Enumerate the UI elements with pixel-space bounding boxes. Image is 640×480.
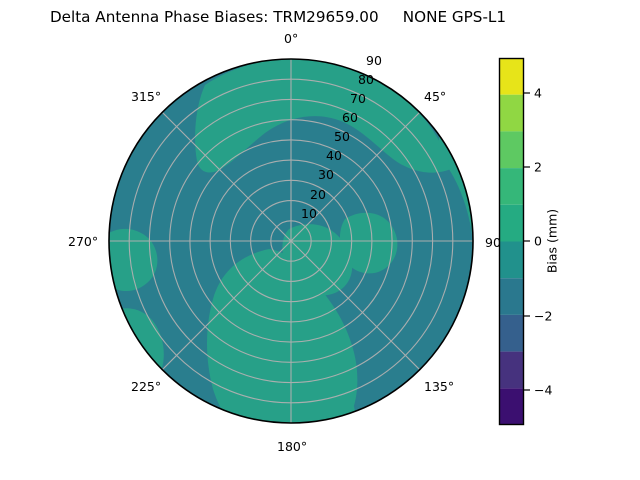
cb-ticklabel-2: 2	[534, 160, 542, 175]
r-tick-10: 10	[301, 206, 317, 221]
polar-plot-canvas[interactable]	[109, 59, 473, 423]
colorbar-axis-label: Bias (mm)	[545, 209, 560, 273]
colorbar-gradient[interactable]	[499, 58, 524, 425]
cb-band-1-2	[499, 168, 524, 205]
cb-ticklabel-0: 0	[534, 234, 542, 249]
theta-tick-315: 315°	[131, 89, 161, 104]
theta-tick-135: 135°	[424, 379, 454, 394]
page-title: Delta Antenna Phase Biases: TRM29659.00 …	[0, 8, 556, 26]
theta-tick-45: 45°	[424, 89, 446, 104]
cb-band-neg1-0	[499, 242, 524, 279]
theta-tick-180: 180°	[277, 439, 307, 454]
cb-band-neg2-neg1	[499, 278, 524, 315]
r-tick-90: 90	[366, 53, 382, 68]
r-tick-40: 40	[326, 148, 342, 163]
colorbar-ticks	[524, 93, 530, 390]
colorbar[interactable]	[499, 58, 524, 425]
cb-band-neg4-neg3	[499, 352, 524, 389]
cb-ticklabel-neg4: −4	[534, 383, 552, 398]
r-tick-70: 70	[350, 91, 366, 106]
r-tick-20: 20	[310, 187, 326, 202]
r-tick-80: 80	[358, 72, 374, 87]
matplotlib-figure: Delta Antenna Phase Biases: TRM29659.00 …	[0, 0, 640, 480]
r-tick-50: 50	[334, 129, 350, 144]
r-tick-30: 30	[318, 167, 334, 182]
cb-band-2-3	[499, 131, 524, 168]
cb-band-0-1	[499, 205, 524, 242]
cb-band-3-4	[499, 95, 524, 132]
polar-axes[interactable]	[109, 59, 473, 423]
cb-ticklabel-neg2: −2	[534, 309, 552, 324]
cb-band-neg3-neg2	[499, 315, 524, 352]
contour-level-positive-south-edge	[259, 403, 356, 464]
colorbar-bands	[499, 58, 524, 425]
r-tick-60: 60	[342, 110, 358, 125]
cb-band-neg5-neg4	[499, 388, 524, 425]
cb-ticklabel-4: 4	[534, 86, 542, 101]
polar-grid	[109, 59, 473, 423]
theta-tick-270: 270°	[68, 234, 98, 249]
theta-tick-225: 225°	[131, 379, 161, 394]
cb-band-4-5	[499, 58, 524, 95]
theta-tick-0: 0°	[284, 31, 298, 46]
